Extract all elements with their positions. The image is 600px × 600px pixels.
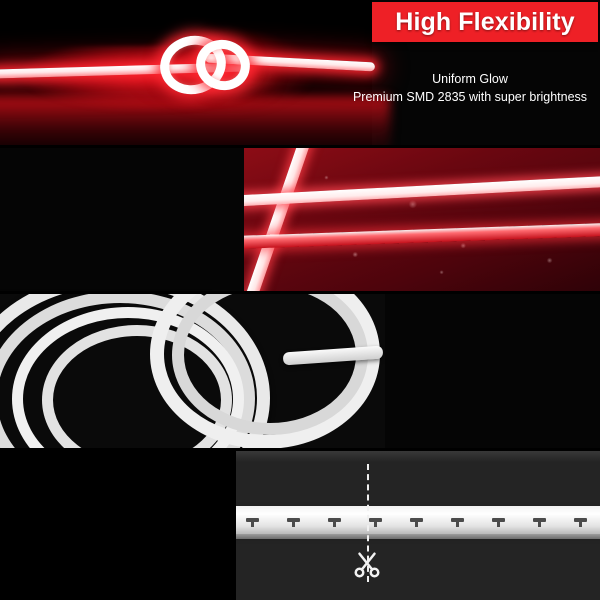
section4-left-background [0,450,236,600]
led-solder-mark [369,518,382,522]
banner-high-flexibility: High Flexibility [372,2,598,42]
section3-right-background [385,293,600,450]
section-divider-1 [0,145,600,148]
knotted-red-strip-photo [0,0,372,145]
led-solder-mark [451,518,464,522]
white-led-strip [230,506,600,534]
section-ip65-waterproof: IP 65 Waterproof IP65 Waterproof level A… [0,145,600,293]
section-360-bendable: 360°bendable: More easy to fix the conne… [0,450,600,600]
strip-upper [200,173,600,209]
led-solder-mark [533,518,546,522]
strip-diagonal [235,145,318,293]
strip-lower-with-droplets [200,221,600,250]
section-divider-3 [0,448,600,451]
scissors-icon [352,550,382,585]
copy-line: Uniform Glow [340,70,600,88]
section4-top-edge [236,450,600,462]
infographic-page: High Flexibility Uniform Glow Premium SM… [0,0,600,600]
cuttable-strip-photo [230,450,600,600]
led-solder-mark [328,518,341,522]
section-high-flexibility: High Flexibility Uniform Glow Premium SM… [0,0,600,145]
white-silicone-coil-photo [0,293,385,450]
led-solder-mark [287,518,300,522]
red-ambient-glow-secondary [120,28,370,138]
section2-left-background [0,145,244,293]
copy-high-flexibility: Uniform Glow Premium SMD 2835 with super… [340,70,600,106]
section-divider-2 [0,291,600,294]
led-solder-mark [574,518,587,522]
copy-line: Premium SMD 2835 with super brightness [340,88,600,106]
led-solder-mark [246,518,259,522]
wet-red-strip-photo [240,145,600,293]
section-safer-silicone: Safer Silicone Material Safer silicone m… [0,293,600,450]
led-solder-mark [492,518,505,522]
led-solder-mark [410,518,423,522]
